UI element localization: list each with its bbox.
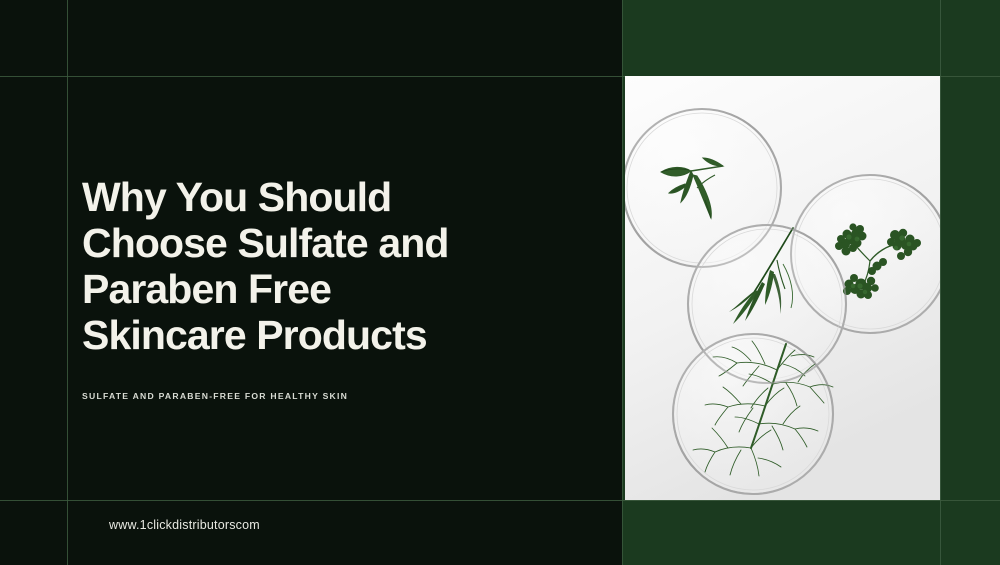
- subtitle-tagline: SULFATE AND PARABEN-FREE FOR HEALTHY SKI…: [82, 391, 348, 401]
- website-url: www.1clickdistributorscom: [109, 518, 260, 532]
- grid-rule-vertical-right: [940, 0, 941, 565]
- presentation-slide: Why You Should Choose Sulfate and Parabe…: [0, 0, 1000, 565]
- grid-rule-horizontal-bottom: [0, 500, 1000, 501]
- grid-rule-vertical-left: [67, 0, 68, 565]
- grid-rule-vertical-center: [622, 0, 623, 565]
- hero-photo-petri-dishes: [625, 76, 940, 500]
- page-title: Why You Should Choose Sulfate and Parabe…: [82, 174, 582, 358]
